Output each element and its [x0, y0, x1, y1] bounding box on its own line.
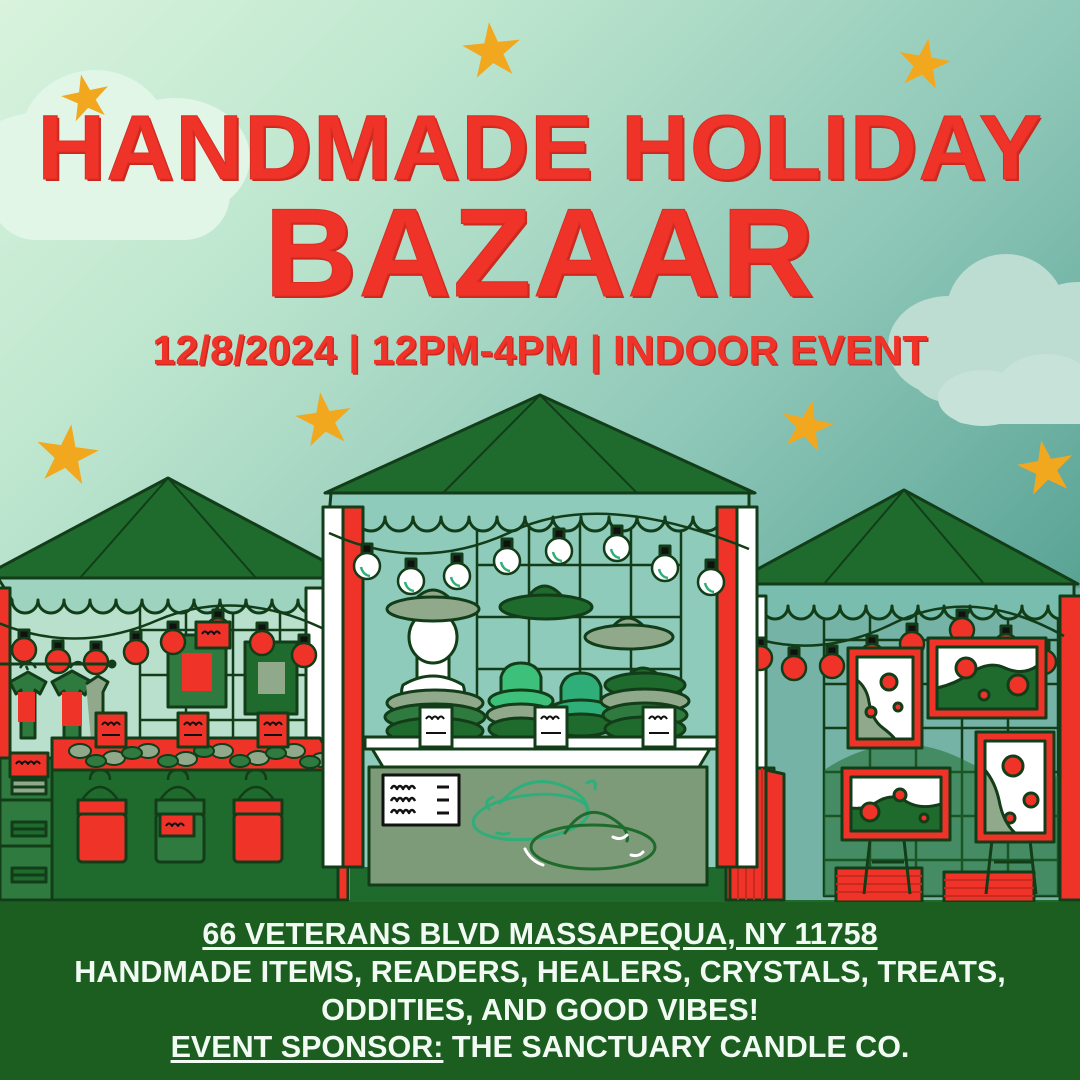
- footer-address: 66 VETERANS BLVD MASSAPEQUA, NY 11758: [202, 916, 877, 954]
- footer-info-band: 66 VETERANS BLVD MASSAPEQUA, NY 11758 HA…: [0, 902, 1080, 1080]
- hat-price-tag: [420, 707, 452, 747]
- price-tag: [96, 713, 126, 747]
- sponsor-label: EVENT SPONSOR:: [171, 1030, 444, 1064]
- price-tag: [160, 814, 194, 836]
- hat-price-tag: [643, 707, 675, 747]
- title-block: HANDMADE HOLIDAY BAZAAR 12/8/2024 | 12PM…: [0, 106, 1080, 374]
- menu-sign: [383, 775, 459, 825]
- framed-painting: [848, 648, 922, 748]
- framed-painting: [842, 768, 950, 840]
- sponsor-name: THE SANCTUARY CANDLE CO.: [443, 1030, 909, 1064]
- address-text: 66 VETERANS BLVD MASSAPEQUA, NY 11758: [202, 917, 877, 951]
- booth-hats-center: [325, 385, 755, 920]
- price-tag: [178, 713, 208, 747]
- hat-price-tag: [535, 707, 567, 747]
- price-tag: [10, 753, 48, 777]
- price-tag: [196, 622, 230, 648]
- title-line-2: BAZAAR: [0, 195, 1080, 311]
- star-mid-right: [776, 395, 838, 457]
- booth-apparel-left: [0, 470, 360, 920]
- event-subtitle: 12/8/2024 | 12PM-4PM | INDOOR EVENT: [0, 327, 1080, 374]
- framed-painting: [928, 638, 1046, 718]
- price-tag: [258, 713, 288, 747]
- booth-art-right: [720, 470, 1080, 920]
- star-top-right: [894, 34, 954, 94]
- star-top-center: [460, 19, 524, 83]
- footer-offerings-line-1: HANDMADE ITEMS, READERS, HEALERS, CRYSTA…: [74, 954, 1005, 992]
- title-line-1: HANDMADE HOLIDAY: [0, 106, 1080, 191]
- framed-painting: [976, 732, 1054, 842]
- footer-offerings-line-2: ODDITIES, AND GOOD VIBES!: [321, 992, 759, 1030]
- event-poster: HANDMADE HOLIDAY BAZAAR 12/8/2024 | 12PM…: [0, 0, 1080, 1080]
- framed-art-right: [245, 642, 297, 714]
- footer-sponsor: EVENT SPONSOR: THE SANCTUARY CANDLE CO.: [171, 1029, 910, 1067]
